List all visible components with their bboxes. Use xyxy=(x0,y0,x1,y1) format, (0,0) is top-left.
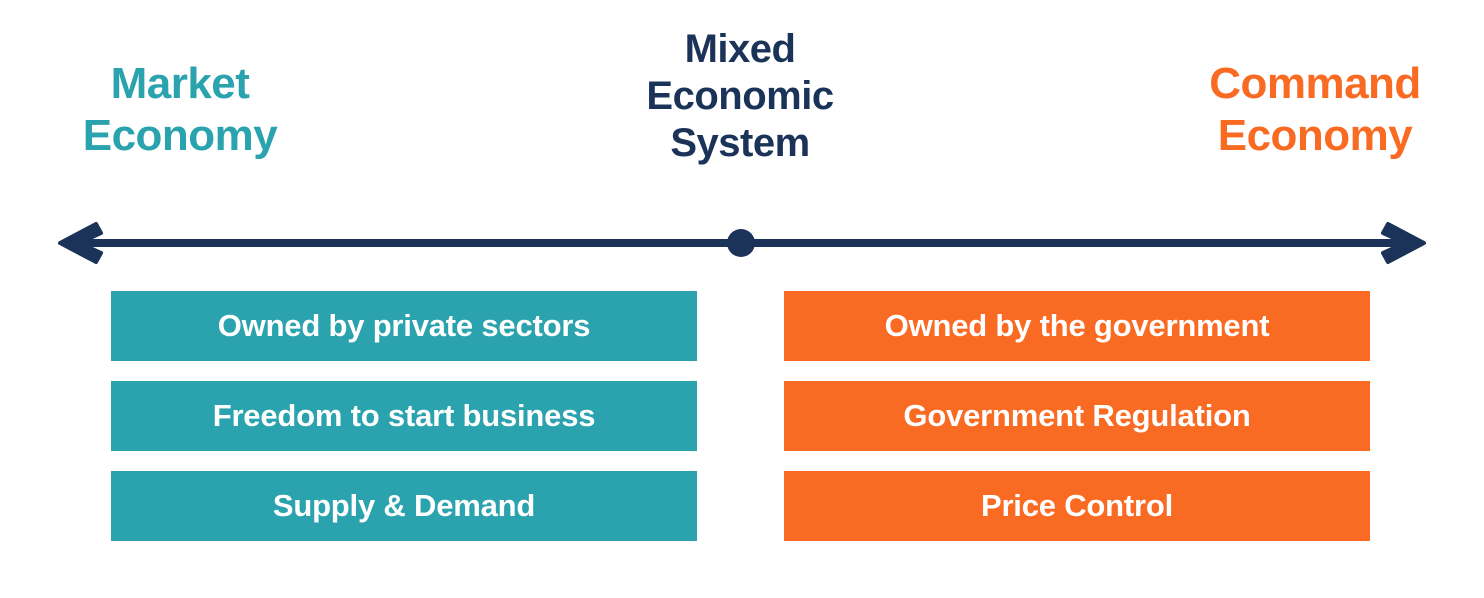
command-feature-item: Government Regulation xyxy=(784,381,1370,451)
market-economy-feature-list: Owned by private sectors Freedom to star… xyxy=(111,291,697,541)
mixed-economic-system-heading: Mixed Economic System xyxy=(590,26,890,168)
center-dot-icon xyxy=(727,229,755,257)
command-economy-feature-list: Owned by the government Government Regul… xyxy=(784,291,1370,541)
market-economy-heading: Market Economy xyxy=(30,58,330,162)
market-feature-item: Supply & Demand xyxy=(111,471,697,541)
market-feature-item: Freedom to start business xyxy=(111,381,697,451)
spectrum-axis xyxy=(0,214,1484,274)
market-feature-item: Owned by private sectors xyxy=(111,291,697,361)
economic-systems-diagram: Market Economy Mixed Economic System Com… xyxy=(0,0,1484,598)
command-feature-item: Price Control xyxy=(784,471,1370,541)
command-feature-item: Owned by the government xyxy=(784,291,1370,361)
command-economy-heading: Command Economy xyxy=(1162,58,1468,162)
